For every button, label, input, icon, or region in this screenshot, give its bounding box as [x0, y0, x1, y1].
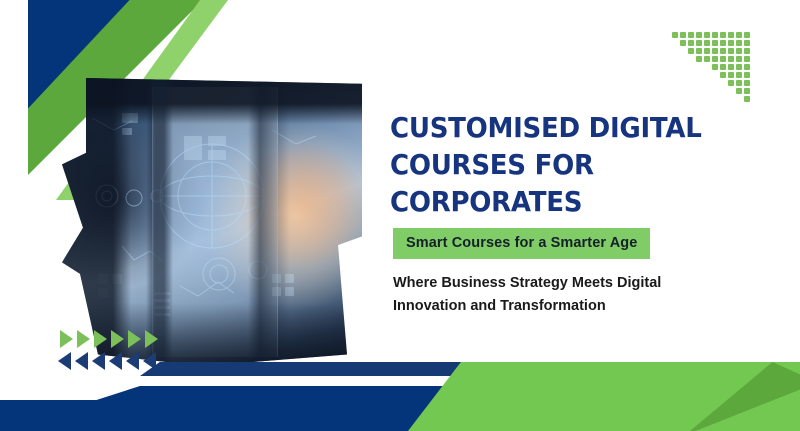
pattern-dot [696, 64, 702, 70]
pattern-dot [672, 56, 678, 62]
pattern-dot [672, 96, 678, 102]
pattern-dot [672, 48, 678, 54]
pattern-dot [744, 64, 750, 70]
pattern-dot [672, 88, 678, 94]
pattern-dot [712, 48, 718, 54]
pattern-dot [736, 72, 742, 78]
arrow-right-icon [128, 330, 141, 348]
pattern-dot [704, 32, 710, 38]
subtitle-text: Where Business Strategy Meets Digital In… [393, 272, 713, 318]
arrow-right-icon [145, 330, 158, 348]
pattern-dot [712, 64, 718, 70]
pattern-dot [720, 88, 726, 94]
pattern-dot [688, 80, 694, 86]
pattern-dot [672, 80, 678, 86]
pattern-dot [688, 56, 694, 62]
pattern-dot [688, 72, 694, 78]
pattern-dot [712, 56, 718, 62]
pattern-dot [736, 32, 742, 38]
pattern-dot [744, 32, 750, 38]
pattern-dot [680, 88, 686, 94]
pattern-dot [704, 88, 710, 94]
pattern-dot [704, 40, 710, 46]
pattern-dot [696, 80, 702, 86]
pattern-dot [736, 64, 742, 70]
pattern-dot [696, 88, 702, 94]
pattern-dot [736, 88, 742, 94]
pattern-dot [728, 88, 734, 94]
pattern-dot [680, 96, 686, 102]
pattern-dot [736, 40, 742, 46]
arrow-left-icon [109, 352, 122, 370]
pattern-dot [728, 64, 734, 70]
pattern-dot [728, 80, 734, 86]
pattern-dot [704, 72, 710, 78]
pattern-dot [672, 40, 678, 46]
pattern-dot [680, 80, 686, 86]
pattern-dot [704, 48, 710, 54]
pattern-dot [736, 56, 742, 62]
pattern-dot [688, 40, 694, 46]
pattern-dot [712, 96, 718, 102]
pattern-dot [744, 40, 750, 46]
pattern-dot [720, 32, 726, 38]
pattern-dot [680, 72, 686, 78]
pattern-dot [696, 40, 702, 46]
hero-photo-image [62, 78, 362, 366]
navy-arrow-row [58, 352, 156, 370]
arrow-left-icon [92, 352, 105, 370]
pattern-dot [680, 64, 686, 70]
pattern-dot [712, 88, 718, 94]
arrow-left-icon [75, 352, 88, 370]
pattern-dot [744, 72, 750, 78]
pattern-dot [728, 96, 734, 102]
pattern-dot [680, 48, 686, 54]
page-title: CUSTOMISED DIGITAL COURSES FOR CORPORATE… [390, 110, 743, 221]
pattern-dot [712, 40, 718, 46]
pattern-dot [696, 48, 702, 54]
pattern-dot [720, 56, 726, 62]
pattern-dot [680, 56, 686, 62]
pattern-dot [720, 40, 726, 46]
pattern-dot [720, 72, 726, 78]
pattern-dot [696, 72, 702, 78]
pattern-dot [736, 80, 742, 86]
arrow-right-icon [94, 330, 107, 348]
pattern-dot [696, 56, 702, 62]
pattern-dot [672, 32, 678, 38]
pattern-dot [712, 80, 718, 86]
pattern-dot [736, 96, 742, 102]
arrow-right-icon [111, 330, 124, 348]
pattern-dot [688, 64, 694, 70]
pattern-dot [672, 72, 678, 78]
pattern-dot [704, 96, 710, 102]
pattern-dot [712, 72, 718, 78]
pattern-dot [680, 32, 686, 38]
promo-banner: CUSTOMISED DIGITAL COURSES FOR CORPORATE… [0, 0, 800, 431]
hero-photo [62, 78, 362, 366]
pattern-dot [728, 48, 734, 54]
pattern-dot [744, 96, 750, 102]
pattern-dot [720, 96, 726, 102]
pattern-dot [688, 48, 694, 54]
pattern-dot [696, 32, 702, 38]
pattern-dot [672, 64, 678, 70]
pattern-dot [728, 56, 734, 62]
pattern-dot [680, 40, 686, 46]
pattern-dot [744, 88, 750, 94]
pattern-dot [704, 56, 710, 62]
arrow-right-icon [60, 330, 73, 348]
pattern-dot [720, 64, 726, 70]
pattern-dot [712, 32, 718, 38]
dot-triangle-pattern [672, 32, 750, 102]
pattern-dot [720, 48, 726, 54]
pattern-dot [728, 40, 734, 46]
pattern-dot [744, 80, 750, 86]
pattern-dot [688, 88, 694, 94]
pattern-dot [704, 80, 710, 86]
pattern-dot [704, 64, 710, 70]
pattern-dot [720, 80, 726, 86]
arrow-left-icon [126, 352, 139, 370]
pattern-dot [696, 96, 702, 102]
pattern-dot [728, 72, 734, 78]
pattern-dot [688, 32, 694, 38]
pattern-dot [744, 56, 750, 62]
photo-shading-overlay [62, 78, 362, 366]
arrow-left-icon [58, 352, 71, 370]
arrow-right-icon [77, 330, 90, 348]
pattern-dot [688, 96, 694, 102]
pattern-dot [744, 48, 750, 54]
green-arrow-row [60, 330, 158, 348]
status-badge: Smart Courses for a Smarter Age [393, 228, 650, 259]
pattern-dot [736, 48, 742, 54]
pattern-dot [728, 32, 734, 38]
